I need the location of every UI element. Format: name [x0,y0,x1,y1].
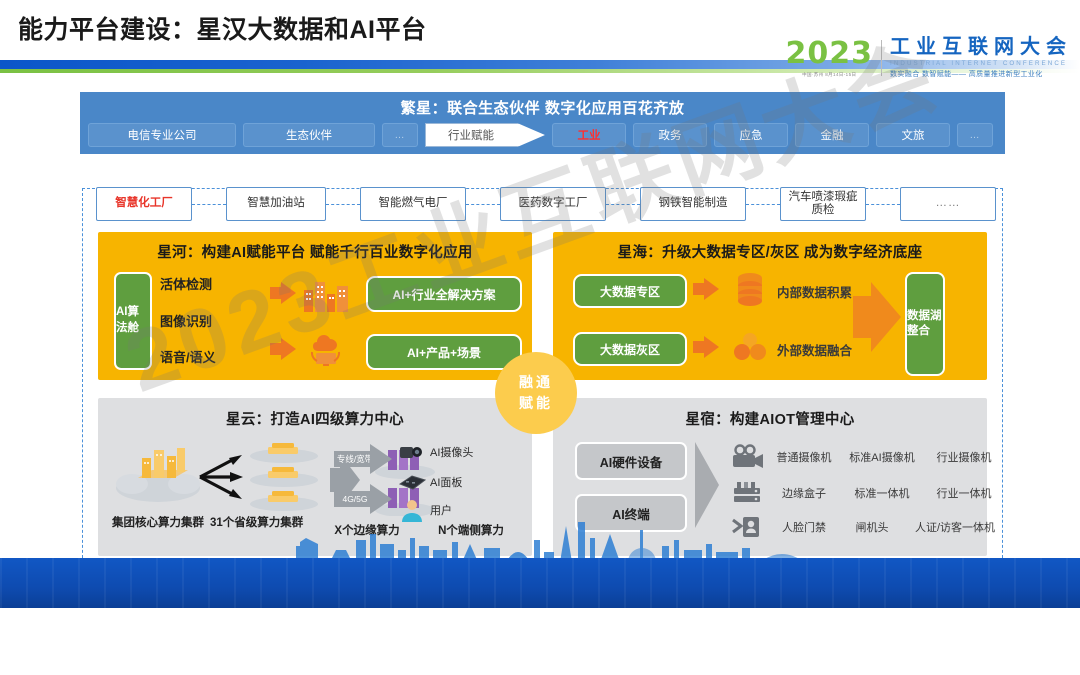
xingxiu-item: 标准AI摄像机 [839,449,925,465]
ai-camera-icon [398,442,424,462]
xinghai-result-box: 数据湖整合 [905,272,945,376]
tab-item-0[interactable]: 电信专业公司 [88,123,236,147]
xinghai-flow-1: 外部数据融合 [777,340,852,359]
xinghe-output-1: AI+产品+场景 [366,334,522,370]
xingxiu-row-1: 边缘盒子 标准一体机 行业一体机 [731,480,1003,506]
province-clusters-icon [242,442,326,514]
logo-title-en: INDUSTRIAL INTERNET CONFERENCE [890,60,1072,67]
xinghe-output-label: AI+产品+场景 [407,344,481,361]
xingyun-title: 星云：打造AI四级算力中心 [98,408,532,429]
industry-chip-6[interactable]: …… [900,187,996,221]
tab-item-4[interactable]: 工业 [552,123,626,147]
ecosystem-tab-row: 电信专业公司生态伙伴…行业赋能工业政务应急金融文旅… [88,122,997,148]
capability-item-2: 语音/语义 [160,347,264,366]
industry-chip-2[interactable]: 智能燃气电厂 [360,187,466,221]
chip-connector [866,204,900,205]
xinghe-title: 星河：构建AI赋能平台 赋能千行百业数字化应用 [98,241,532,262]
industry-chip-0[interactable]: 智慧化工厂 [96,187,192,221]
xingxiu-title: 星宿：构建AIOT管理中心 [553,408,987,429]
cloud-device-icon [303,332,351,366]
circle-line-1: 融通 [519,372,553,393]
center-synergy-circle: 融通 赋能 [495,352,577,434]
tab-item-1[interactable]: 生态伙伴 [243,123,375,147]
branch-arrows-icon [198,448,244,506]
tab-item-8[interactable]: 文旅 [876,123,950,147]
tab-item-5[interactable]: 政务 [633,123,707,147]
xingxiu-item: 行业一体机 [925,485,1003,501]
xinghe-output-label: AI+行业全解决方案 [392,286,495,303]
arrow-right-icon [270,282,296,304]
edge-box-icon [731,480,765,506]
logo-year-subtitle: 中国·苏州 8月14日-15日 [802,72,856,78]
tab-more[interactable]: … [957,123,993,147]
endpoint-label-2: 用户 [430,502,452,518]
chevron-right-icon [695,442,721,528]
industry-chip-4[interactable]: 钢铁智能制造 [640,187,746,221]
arrow-right-icon [693,336,719,358]
camera-icon [731,444,765,470]
logo-year-block: 2023 中国·苏州 8月14日-15日 [786,39,882,78]
capability-item-0: 活体检测 [160,274,264,293]
xingxiu-category-0: AI硬件设备 [575,442,687,480]
city-skyline-graphic [0,520,1080,562]
xinghe-panel: 星河：构建AI赋能平台 赋能千行百业数字化应用 AI算法舱 活体检测 图像识别 … [98,232,532,380]
arrow-right-large-icon [853,282,901,352]
xinghai-panel: 星海：升级大数据专区/灰区 成为数字经济底座 大数据专区 大数据灰区 内部数据积… [553,232,987,380]
user-icon [400,498,424,522]
arrow-right-icon [693,278,719,300]
data-merge-icon [733,330,767,364]
arrow-right-icon [270,338,296,360]
xingxiu-item: 边缘盒子 [769,485,839,501]
endpoint-label-0: AI摄像头 [430,444,473,460]
logo-year: 2023 [786,39,874,69]
tab-industry-enablement[interactable]: 行业赋能 [425,123,545,147]
xingxiu-item: 普通摄像机 [769,449,839,465]
xinghai-title: 星海：升级大数据专区/灰区 成为数字经济底座 [553,241,987,262]
capability-item-1: 图像识别 [160,311,264,330]
slide-root: 能力平台建设：星汉大数据和AI平台 2023 中国·苏州 8月14日-15日 工… [0,0,1080,608]
chip-connector [192,204,226,205]
industry-chip-1[interactable]: 智慧加油站 [226,187,326,221]
buildings-icon [303,278,351,312]
chip-connector [746,204,780,205]
logo-text-block: 工业互联网大会 INDUSTRIAL INTERNET CONFERENCE 数… [882,37,1072,79]
chip-connector [466,204,500,205]
xinghe-capability-list: 活体检测 图像识别 语音/语义 [160,274,264,366]
xinghai-flow-0: 内部数据积累 [777,282,852,301]
link-label-1: 4G/5G [336,491,374,507]
link-arrow-mobile: 4G/5G [334,484,394,514]
xinghe-output-0: AI+行业全解决方案 [366,276,522,312]
xingxiu-item: 行业摄像机 [925,449,1003,465]
xinghai-zone-label: 大数据专区 [600,283,660,300]
xingxiu-row-0: 普通摄像机 标准AI摄像机 行业摄像机 [731,444,1003,470]
logo-tagline: 数实融合 数智赋能—— 高质量推进新型工业化 [890,69,1072,79]
xingxiu-category-label: AI硬件设备 [600,452,663,471]
chip-connector [326,204,360,205]
ai-algorithm-capsule-label: AI算法舱 [116,305,150,336]
xinghai-result-label: 数据湖整合 [907,309,943,339]
xinghai-zone-0: 大数据专区 [573,274,687,308]
xinghai-zone-1: 大数据灰区 [573,332,687,366]
ai-algorithm-capsule: AI算法舱 [114,272,152,370]
industry-chip-3[interactable]: 医药数字工厂 [500,187,606,221]
endpoint-label-1: AI面板 [430,474,462,490]
xingxiu-item: 标准一体机 [839,485,925,501]
link-label-0: 专线/宽带 [336,451,374,467]
tab-more[interactable]: … [382,123,418,147]
conference-logo: 2023 中国·苏州 8月14日-15日 工业互联网大会 INDUSTRIAL … [786,36,1073,80]
tab-item-6[interactable]: 应急 [714,123,788,147]
page-title: 能力平台建设：星汉大数据和AI平台 [18,10,427,46]
core-cluster-icon [110,440,206,506]
tab-item-7[interactable]: 金融 [795,123,869,147]
database-icon [733,272,767,308]
industry-scenario-row: 智慧化工厂智慧加油站智能燃气电厂医药数字工厂钢铁智能制造汽车喷漆瑕疵质检…… [96,185,996,223]
circle-line-2: 赋能 [519,393,553,414]
link-arrow-dedicated: 专线/宽带 [334,444,394,474]
tab-label: 行业赋能 [448,127,494,143]
chip-connector [606,204,640,205]
ecosystem-panel: 繁星：联合生态伙伴 数字化应用百花齐放 电信专业公司生态伙伴…行业赋能工业政务应… [80,92,1005,154]
footer-grid-pattern [0,558,1080,608]
ecosystem-panel-title: 繁星：联合生态伙伴 数字化应用百花齐放 [80,97,1005,118]
ai-panel-icon [398,472,426,490]
xinghai-zone-label: 大数据灰区 [600,341,660,358]
logo-title-cn: 工业互联网大会 [890,37,1072,58]
industry-chip-5[interactable]: 汽车喷漆瑕疵质检 [780,187,866,221]
